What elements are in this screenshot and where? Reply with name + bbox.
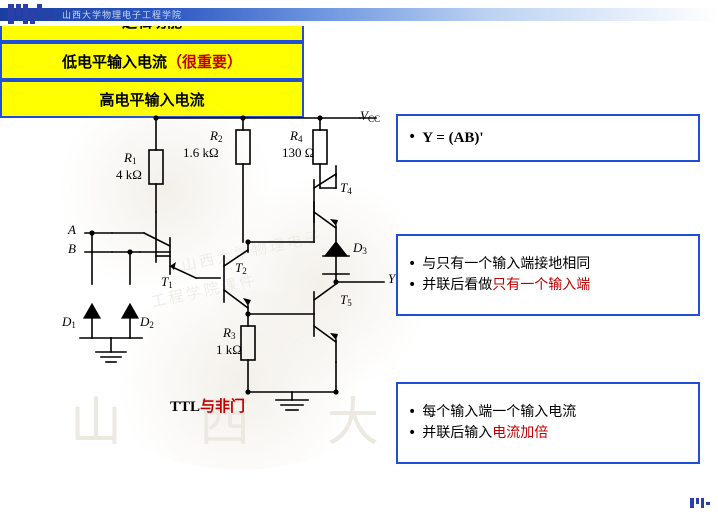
bullet-dot-icon: • — [408, 254, 416, 275]
bullet-text: 每个输入端一个输入电流 — [422, 402, 576, 423]
circuit-caption: TTL与非门 — [170, 395, 245, 416]
panel-body-high-level-input-current: • 每个输入端一个输入电流 • 并联后输入电流加倍 — [396, 382, 700, 464]
label-r4: R4 — [290, 128, 302, 144]
bullet-dot-icon: • — [408, 127, 416, 148]
label-r3-value: 1 kΩ — [216, 342, 242, 358]
label-d3: D3 — [353, 240, 367, 256]
header-band: 山西大学物理电子工程学院 — [0, 0, 718, 26]
bullet-text-emphasis: 电流加倍 — [492, 425, 548, 441]
diode-d1-symbol — [84, 304, 100, 318]
circuit-caption-main: TTL — [170, 399, 200, 415]
bullet-text-emphasis: 只有一个输入端 — [492, 277, 590, 293]
list-item: • 每个输入端一个输入电流 — [408, 402, 688, 423]
diode-d3-symbol — [325, 242, 347, 256]
bullet-text: 并联后看做 — [422, 277, 492, 293]
list-item: • 与只有一个输入端接地相同 — [408, 254, 688, 275]
label-vcc: VCC — [360, 108, 380, 124]
list-item: • 并联后输入电流加倍 — [408, 423, 688, 444]
bullet-text: 与只有一个输入端接地相同 — [422, 254, 590, 275]
label-input-a: A — [68, 222, 76, 238]
label-input-b: B — [68, 241, 76, 257]
label-r2: R2 — [210, 128, 222, 144]
panel-body-logic-function: • Y = (AB)' — [396, 114, 700, 162]
panel-title-emphasis: （很重要） — [167, 51, 242, 72]
panel-body-low-level-input-current: • 与只有一个输入端接地相同 • 并联后看做只有一个输入端 — [396, 234, 700, 316]
ttl-nand-circuit-diagram: VCC R1 4 kΩ R2 1.6 kΩ R4 130 Ω R3 1 kΩ T… — [20, 70, 420, 420]
diode-d2-symbol — [122, 304, 138, 318]
footer-logo-icon — [690, 498, 712, 508]
bullet-dot-icon: • — [408, 275, 416, 296]
label-t5: T5 — [340, 292, 352, 308]
label-d2: D2 — [140, 314, 154, 330]
slide-page: 山西大学物理电子工程学院 山 西 大 学 山西大学物理电子 工程学院课件 — [0, 0, 718, 512]
label-output-y: Y — [388, 271, 395, 287]
label-r4-value: 130 Ω — [282, 145, 314, 161]
label-r1: R1 — [124, 150, 136, 166]
bullet-text: 并联后输入 — [422, 425, 492, 441]
label-t4: T4 — [340, 180, 352, 196]
bullet-text: Y = (AB)' — [422, 130, 483, 146]
header-title: 山西大学物理电子工程学院 — [62, 8, 182, 21]
label-r2-value: 1.6 kΩ — [183, 145, 219, 161]
label-r1-value: 4 kΩ — [116, 167, 142, 183]
bullet-dot-icon: • — [408, 402, 416, 423]
label-r3: R3 — [223, 325, 235, 341]
label-d1: D1 — [62, 314, 76, 330]
label-t2: T2 — [235, 260, 247, 276]
label-t1: T1 — [161, 274, 173, 290]
panel-title-text: 低电平输入电流 — [62, 51, 167, 72]
bullet-dot-icon: • — [408, 423, 416, 444]
institution-logo-icon — [8, 2, 54, 26]
list-item: • 并联后看做只有一个输入端 — [408, 275, 688, 296]
circuit-caption-red: 与非门 — [200, 399, 245, 415]
list-item: • Y = (AB)' — [408, 127, 688, 150]
